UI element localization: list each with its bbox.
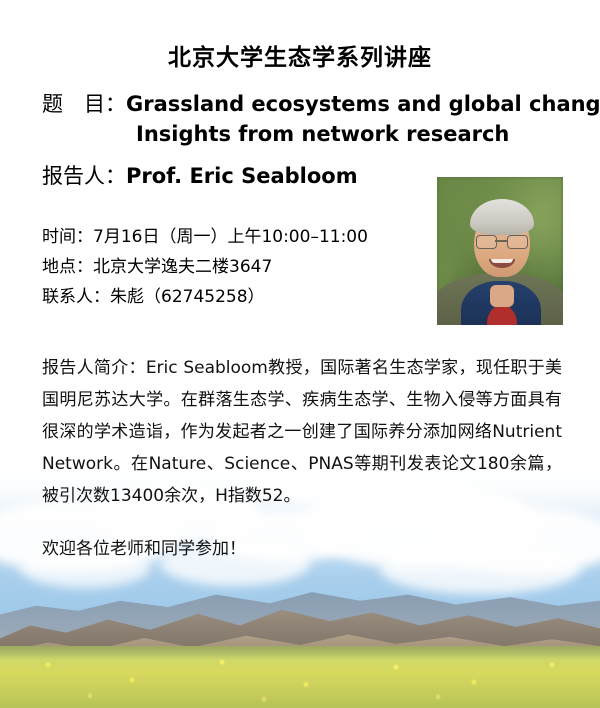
lecture-poster: 北京大学生态学系列讲座 题 目：Grassland ecosystems and… bbox=[0, 0, 600, 708]
topic-title-line-2: Insights from network research bbox=[136, 122, 509, 146]
portrait-teeth bbox=[491, 259, 513, 263]
detail-row-contact: 联系人：朱彪（62745258） bbox=[42, 282, 462, 312]
speaker-name: Prof. Eric Seabloom bbox=[126, 164, 358, 188]
topic-block: 题 目：Grassland ecosystems and global chan… bbox=[42, 89, 562, 149]
location-value: 北京大学逸夫二楼3647 bbox=[93, 257, 272, 277]
portrait-eyeglass-right bbox=[507, 235, 528, 249]
topic-title-line-1: Grassland ecosystems and global change: bbox=[126, 92, 600, 116]
portrait-eyeglass-left bbox=[476, 235, 497, 249]
field-texture bbox=[0, 646, 600, 708]
contact-label: 联系人： bbox=[42, 287, 110, 306]
topic-label: 题 目： bbox=[42, 92, 126, 116]
page-title: 北京大学生态学系列讲座 bbox=[0, 38, 600, 72]
portrait-neck bbox=[490, 285, 514, 307]
speaker-label: 报告人： bbox=[42, 164, 126, 188]
speaker-biography: 报告人简介：Eric Seabloom教授，国际著名生态学家，现任职于美国明尼苏… bbox=[42, 352, 562, 512]
location-label: 地点： bbox=[42, 257, 93, 276]
topic-line-1: 题 目：Grassland ecosystems and global chan… bbox=[42, 89, 562, 119]
portrait-eyeglass-bridge bbox=[495, 240, 507, 242]
time-label: 时间： bbox=[42, 227, 93, 246]
event-details: 时间：7月16日（周一）上午10:00–11:00 地点：北京大学逸夫二楼364… bbox=[42, 222, 462, 312]
biography-text: Eric Seabloom教授，国际著名生态学家，现任职于美国明尼苏达大学。在群… bbox=[42, 358, 562, 506]
welcome-note: 欢迎各位老师和同学参加！ bbox=[42, 534, 246, 564]
detail-row-location: 地点：北京大学逸夫二楼3647 bbox=[42, 252, 462, 282]
speaker-line: 报告人：Prof. Eric Seabloom bbox=[42, 161, 358, 191]
cloud-shape bbox=[380, 544, 580, 594]
speaker-portrait-photo bbox=[437, 177, 563, 325]
detail-row-time: 时间：7月16日（周一）上午10:00–11:00 bbox=[42, 222, 462, 252]
contact-value: 朱彪（62745258） bbox=[110, 287, 265, 307]
topic-line-2: Insights from network research bbox=[42, 119, 562, 149]
time-value: 7月16日（周一）上午10:00–11:00 bbox=[93, 227, 368, 247]
biography-label: 报告人简介： bbox=[42, 358, 146, 377]
